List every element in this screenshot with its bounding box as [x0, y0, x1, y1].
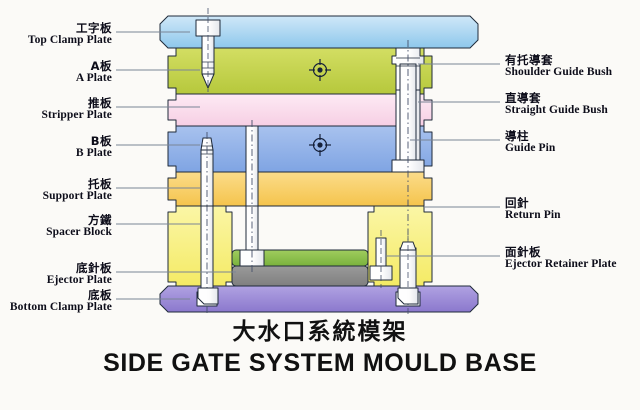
bottom-screw-right-head	[398, 288, 418, 304]
label-return-pin: 回針 Return Pin	[505, 197, 640, 221]
title-english: SIDE GATE SYSTEM MOULD BASE	[0, 349, 640, 378]
label-guide-pin-en: Guide Pin	[505, 142, 640, 154]
label-ejector-plate-cn: 底針板	[0, 262, 112, 274]
label-stripper-plate-en: Stripper Plate	[0, 109, 112, 121]
label-a-plate-cn: A板	[0, 60, 112, 72]
label-a-plate: A板 A Plate	[0, 60, 112, 84]
label-straight-guide-bush: 直導套 Straight Guide Bush	[505, 92, 640, 116]
bottom-screw-left-head	[198, 288, 218, 304]
label-ejector-plate-en: Ejector Plate	[0, 274, 112, 286]
title-chinese: 大水口系統模架	[0, 312, 640, 346]
label-guide-pin: 導柱 Guide Pin	[505, 130, 640, 154]
label-ejector-retainer-plate-en: Ejector Retainer Plate	[505, 258, 640, 270]
label-guide-pin-cn: 導柱	[505, 130, 640, 142]
label-top-clamp-plate-en: Top Clamp Plate	[0, 34, 112, 46]
label-bottom-clamp-plate: 底板 Bottom Clamp Plate	[0, 289, 112, 313]
label-ejector-retainer-plate-cn: 面針板	[505, 246, 640, 258]
label-shoulder-guide-bush-cn: 有托導套	[505, 54, 640, 66]
title-block: 大水口系統模架 SIDE GATE SYSTEM MOULD BASE	[0, 312, 640, 378]
label-b-plate-cn: B板	[0, 135, 112, 147]
label-shoulder-guide-bush: 有托導套 Shoulder Guide Bush	[505, 54, 640, 78]
label-spacer-block-cn: 方鐵	[0, 214, 112, 226]
label-shoulder-guide-bush-en: Shoulder Guide Bush	[505, 66, 640, 78]
label-straight-guide-bush-en: Straight Guide Bush	[505, 104, 640, 116]
label-support-plate-cn: 托板	[0, 178, 112, 190]
label-stripper-plate-cn: 推板	[0, 97, 112, 109]
label-ejector-retainer-plate: 面針板 Ejector Retainer Plate	[505, 246, 640, 270]
label-return-pin-en: Return Pin	[505, 209, 640, 221]
label-ejector-plate: 底針板 Ejector Plate	[0, 262, 112, 286]
label-spacer-block: 方鐵 Spacer Block	[0, 214, 112, 238]
label-a-plate-en: A Plate	[0, 72, 112, 84]
label-top-clamp-plate: 工字板 Top Clamp Plate	[0, 22, 112, 46]
label-support-plate: 托板 Support Plate	[0, 178, 112, 202]
label-b-plate-en: B Plate	[0, 147, 112, 159]
label-return-pin-cn: 回針	[505, 197, 640, 209]
label-bottom-clamp-plate-cn: 底板	[0, 289, 112, 301]
label-stripper-plate: 推板 Stripper Plate	[0, 97, 112, 121]
label-b-plate: B板 B Plate	[0, 135, 112, 159]
spacer-block-left	[168, 206, 232, 288]
label-spacer-block-en: Spacer Block	[0, 226, 112, 238]
label-straight-guide-bush-cn: 直導套	[505, 92, 640, 104]
label-support-plate-en: Support Plate	[0, 190, 112, 202]
plate-stripper	[168, 94, 432, 126]
label-top-clamp-plate-cn: 工字板	[0, 22, 112, 34]
